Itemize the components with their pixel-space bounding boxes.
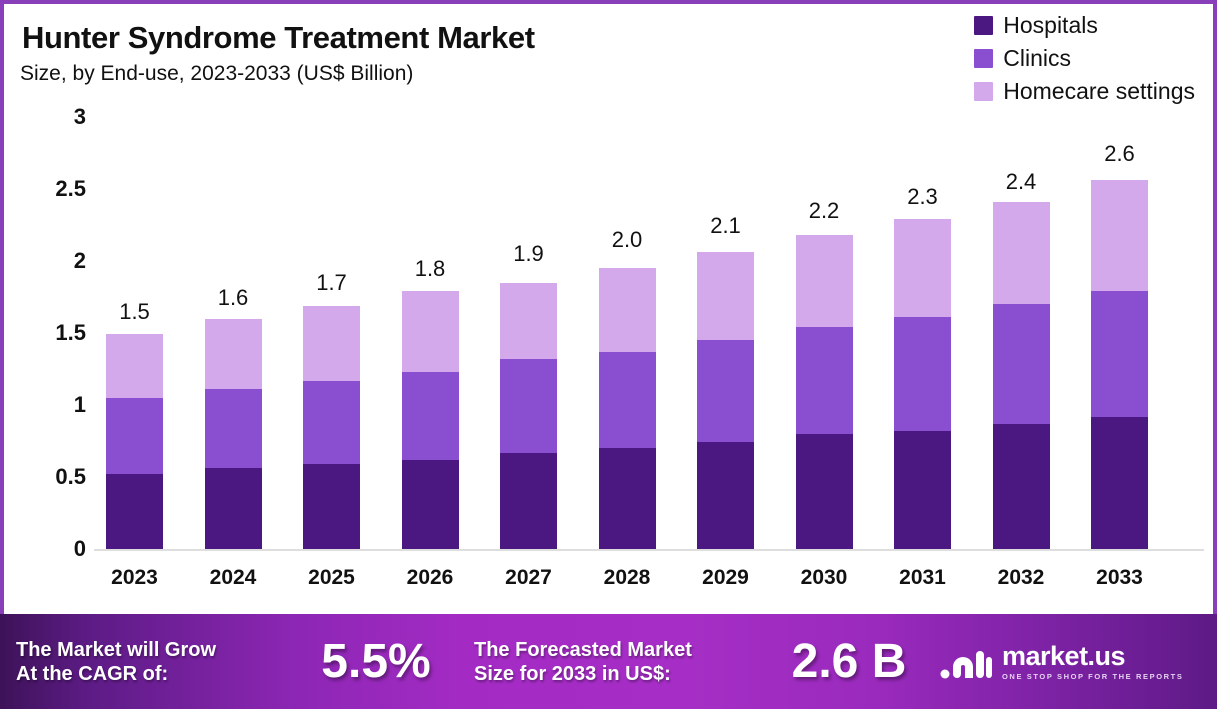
- x-axis-tick-label: 2026: [407, 566, 454, 590]
- stacked-bar[interactable]: [599, 268, 656, 549]
- logo-text: market.us ONE STOP SHOP FOR THE REPORTS: [1002, 643, 1183, 681]
- bar-segment-homecare-settings[interactable]: [106, 334, 163, 397]
- bar-segment-homecare-settings[interactable]: [894, 219, 951, 317]
- bar-segment-clinics[interactable]: [303, 381, 360, 465]
- bar-segment-homecare-settings[interactable]: [1091, 180, 1148, 291]
- cagr-label: The Market will Grow At the CAGR of:: [16, 638, 286, 686]
- bar-segment-homecare-settings[interactable]: [796, 235, 853, 327]
- bar-group[interactable]: 2.42032: [993, 4, 1050, 618]
- market-us-logo: market.us ONE STOP SHOP FOR THE REPORTS: [940, 643, 1183, 681]
- bar-value-label: 2.1: [710, 213, 741, 239]
- forecast-value: 2.6 B: [774, 634, 924, 689]
- y-axis-tick: 3: [16, 104, 86, 130]
- stacked-bar[interactable]: [500, 283, 557, 549]
- bar-group[interactable]: 1.52023: [106, 4, 163, 618]
- bar-group[interactable]: 1.62024: [205, 4, 262, 618]
- bar-group[interactable]: 2.62033: [1091, 4, 1148, 618]
- stacked-bar[interactable]: [1091, 180, 1148, 549]
- bar-segment-hospitals[interactable]: [106, 474, 163, 549]
- x-axis-tick-label: 2024: [210, 566, 257, 590]
- cagr-value: 5.5%: [286, 634, 466, 689]
- bar-value-label: 2.3: [907, 184, 938, 210]
- logo-name: market.us: [1002, 643, 1183, 670]
- bar-segment-homecare-settings[interactable]: [993, 202, 1050, 304]
- infographic-page: Hunter Syndrome Treatment Market Size, b…: [0, 0, 1217, 709]
- y-axis-tick: 0.5: [16, 464, 86, 490]
- bar-group[interactable]: 2.22030: [796, 4, 853, 618]
- bar-segment-homecare-settings[interactable]: [303, 306, 360, 381]
- bar-segment-clinics[interactable]: [106, 398, 163, 474]
- x-axis-tick-label: 2025: [308, 566, 355, 590]
- bar-group[interactable]: 2.02028: [599, 4, 656, 618]
- bar-chart-logo-icon: [940, 643, 992, 681]
- bar-segment-homecare-settings[interactable]: [697, 252, 754, 340]
- stacked-bar[interactable]: [303, 306, 360, 549]
- x-axis-tick-label: 2023: [111, 566, 158, 590]
- y-axis-tick: 2.5: [16, 176, 86, 202]
- bar-value-label: 2.2: [809, 198, 840, 224]
- logo-tagline: ONE STOP SHOP FOR THE REPORTS: [1002, 673, 1183, 681]
- bar-segment-homecare-settings[interactable]: [599, 268, 656, 352]
- bar-segment-homecare-settings[interactable]: [500, 283, 557, 359]
- bar-segment-hospitals[interactable]: [599, 448, 656, 549]
- stacked-bar[interactable]: [894, 219, 951, 549]
- bar-segment-homecare-settings[interactable]: [402, 291, 459, 372]
- bar-value-label: 1.5: [119, 299, 150, 325]
- bar-segment-hospitals[interactable]: [894, 431, 951, 549]
- bar-group[interactable]: 2.12029: [697, 4, 754, 618]
- bar-segment-clinics[interactable]: [1091, 291, 1148, 416]
- stacked-bar[interactable]: [993, 202, 1050, 549]
- bar-value-label: 2.6: [1104, 141, 1135, 167]
- bar-segment-hospitals[interactable]: [993, 424, 1050, 549]
- bar-value-label: 1.6: [218, 285, 249, 311]
- bar-group[interactable]: 2.32031: [894, 4, 951, 618]
- bar-value-label: 1.8: [415, 256, 446, 282]
- bar-segment-hospitals[interactable]: [796, 434, 853, 549]
- stacked-bar[interactable]: [106, 334, 163, 549]
- bar-segment-hospitals[interactable]: [500, 453, 557, 549]
- chart-card: Hunter Syndrome Treatment Market Size, b…: [0, 0, 1217, 614]
- stacked-bar[interactable]: [796, 235, 853, 549]
- bar-segment-clinics[interactable]: [599, 352, 656, 448]
- bar-group[interactable]: 1.72025: [303, 4, 360, 618]
- bar-value-label: 1.7: [316, 270, 347, 296]
- bar-group[interactable]: 1.82026: [402, 4, 459, 618]
- bar-series-container: 1.520231.620241.720251.820261.920272.020…: [94, 4, 1204, 618]
- x-axis-tick-label: 2030: [801, 566, 848, 590]
- bar-segment-clinics[interactable]: [894, 317, 951, 431]
- bar-segment-hospitals[interactable]: [402, 460, 459, 549]
- y-axis: 00.511.522.53: [16, 4, 86, 618]
- x-axis-tick-label: 2029: [702, 566, 749, 590]
- plot-area: 00.511.522.53 1.520231.620241.720251.820…: [4, 4, 1217, 618]
- stacked-bar[interactable]: [402, 291, 459, 549]
- bar-segment-hospitals[interactable]: [697, 442, 754, 549]
- bar-segment-hospitals[interactable]: [205, 468, 262, 549]
- stacked-bar[interactable]: [205, 319, 262, 549]
- bar-value-label: 2.4: [1006, 169, 1037, 195]
- x-axis-tick-label: 2028: [604, 566, 651, 590]
- forecast-label: The Forecasted Market Size for 2033 in U…: [474, 638, 774, 686]
- y-axis-tick: 0: [16, 536, 86, 562]
- summary-banner: The Market will Grow At the CAGR of: 5.5…: [0, 614, 1217, 709]
- x-axis-tick-label: 2033: [1096, 566, 1143, 590]
- bar-value-label: 2.0: [612, 227, 643, 253]
- y-axis-tick: 1.5: [16, 320, 86, 346]
- bar-segment-clinics[interactable]: [993, 304, 1050, 424]
- bar-segment-clinics[interactable]: [697, 340, 754, 442]
- bar-value-label: 1.9: [513, 241, 544, 267]
- bar-segment-hospitals[interactable]: [303, 464, 360, 549]
- bar-segment-hospitals[interactable]: [1091, 417, 1148, 549]
- bar-segment-clinics[interactable]: [205, 389, 262, 468]
- bar-segment-clinics[interactable]: [796, 327, 853, 434]
- bar-segment-clinics[interactable]: [402, 372, 459, 460]
- x-axis-tick-label: 2032: [998, 566, 1045, 590]
- bar-segment-clinics[interactable]: [500, 359, 557, 453]
- stacked-bar[interactable]: [697, 252, 754, 549]
- bar-segment-homecare-settings[interactable]: [205, 319, 262, 390]
- y-axis-tick: 1: [16, 392, 86, 418]
- x-axis-tick-label: 2027: [505, 566, 552, 590]
- x-axis-tick-label: 2031: [899, 566, 946, 590]
- bar-group[interactable]: 1.92027: [500, 4, 557, 618]
- y-axis-tick: 2: [16, 248, 86, 274]
